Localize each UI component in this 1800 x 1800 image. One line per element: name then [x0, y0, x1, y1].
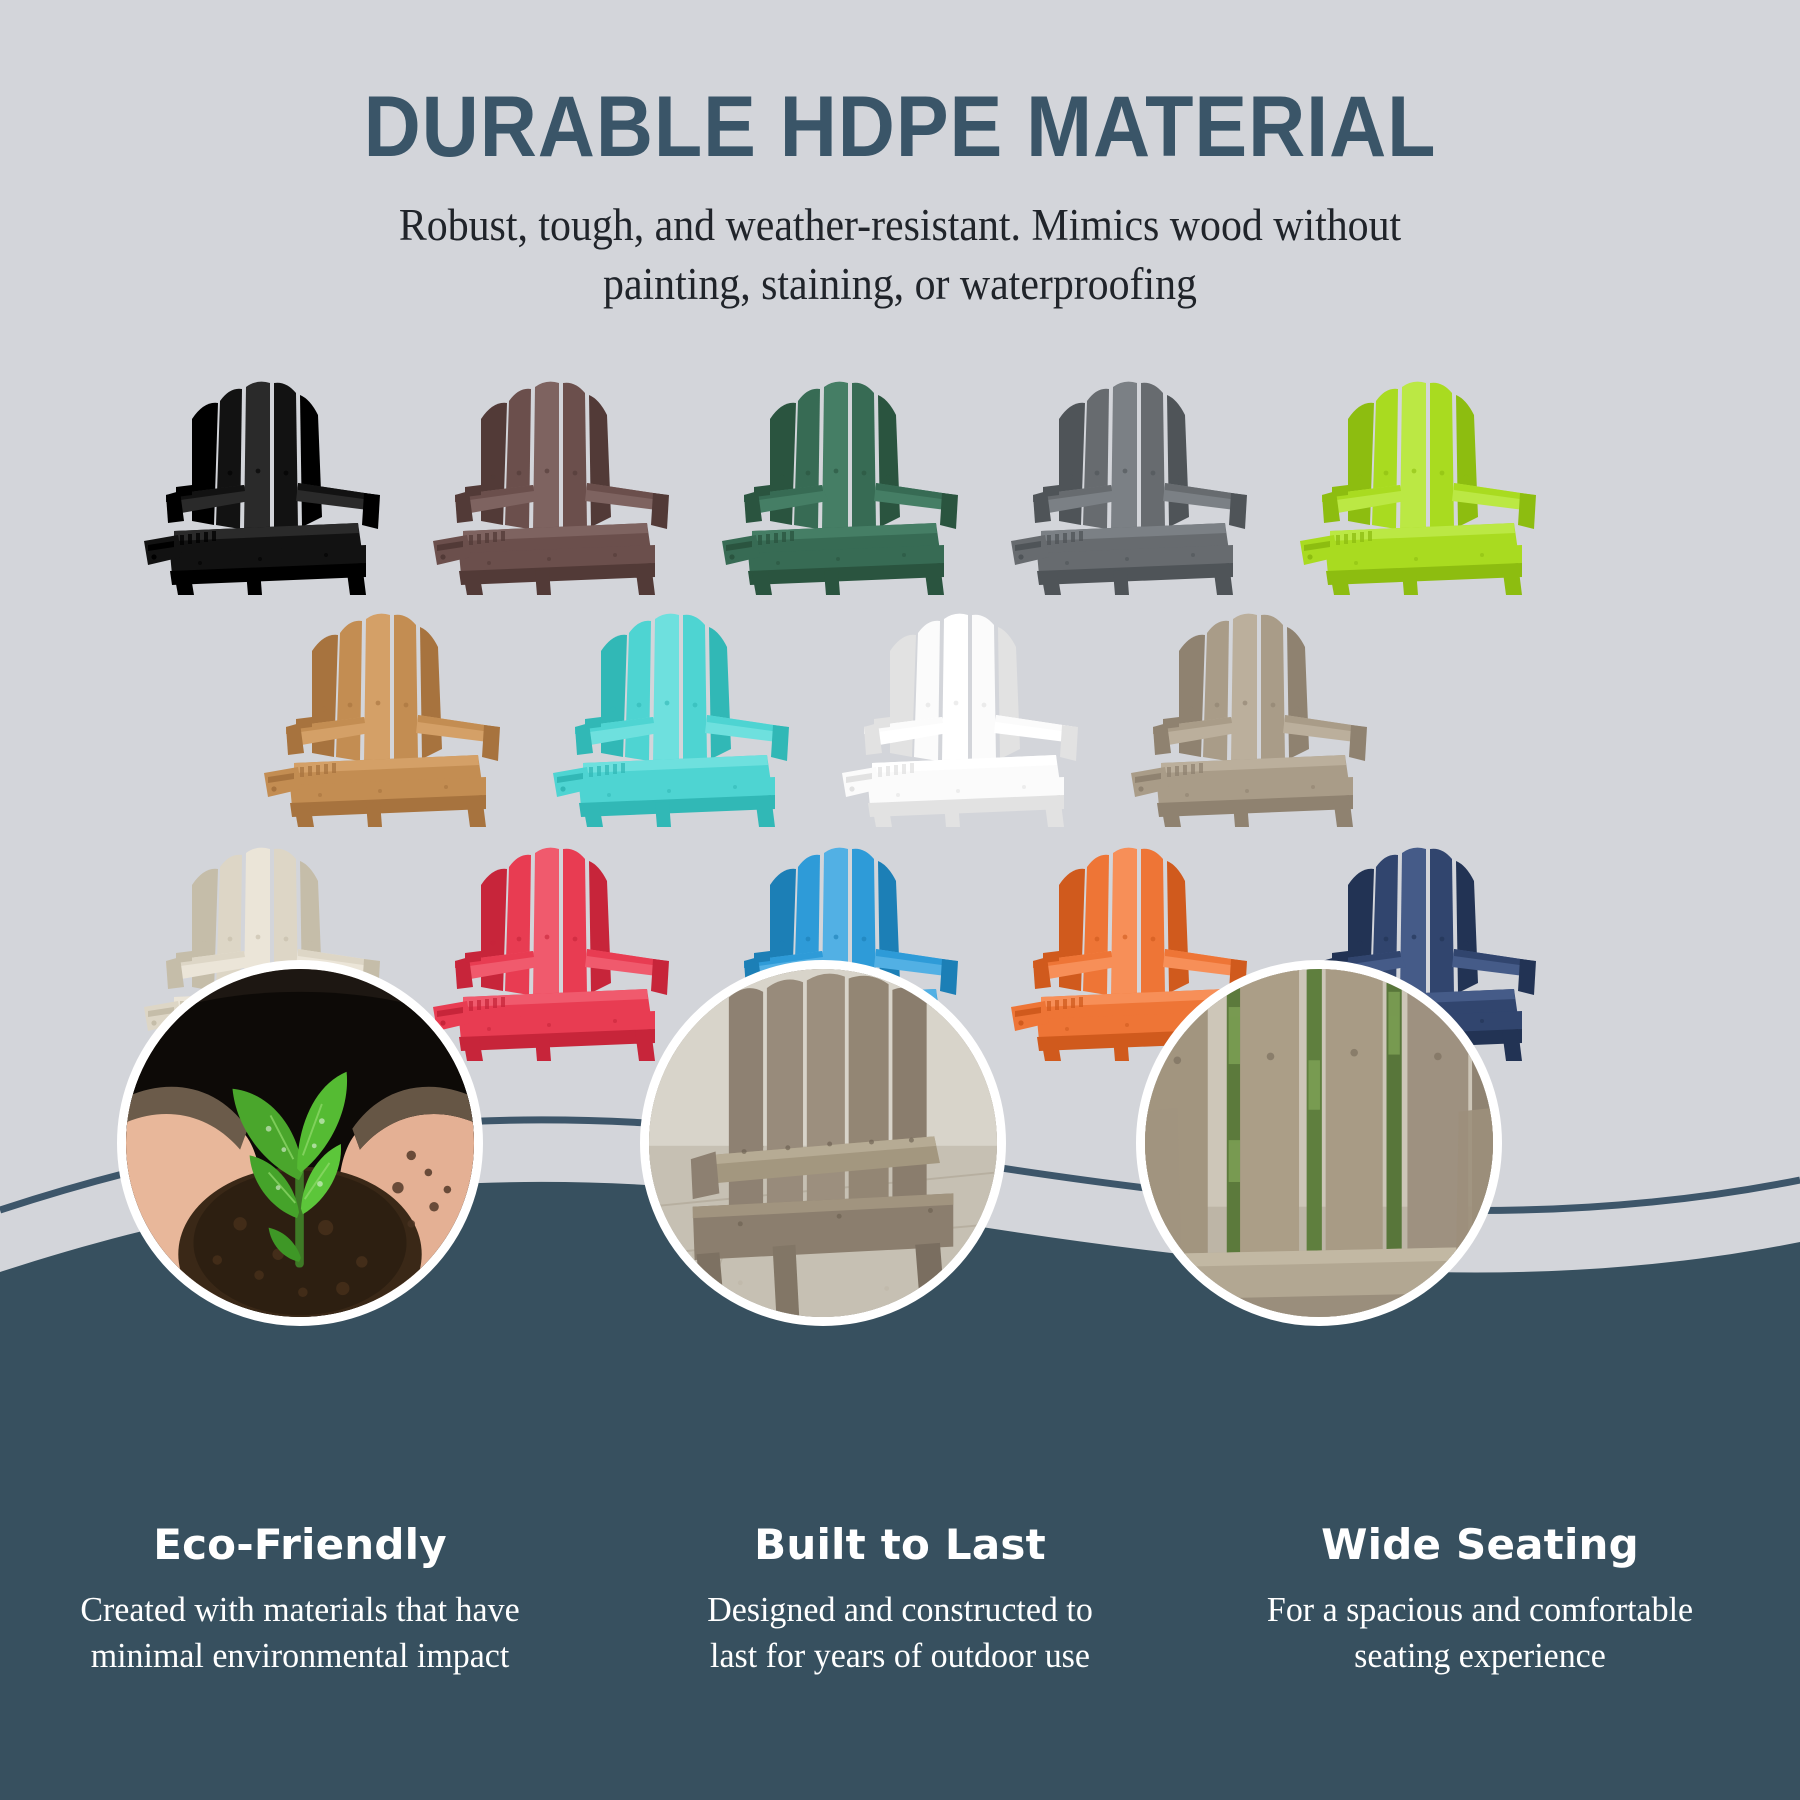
caption-line-2: seating experience — [1208, 1633, 1751, 1679]
chair-gray[interactable] — [1007, 345, 1257, 595]
chair-lime-green[interactable] — [1296, 345, 1546, 595]
chair-illustration — [140, 345, 390, 595]
chair-dark-green[interactable] — [718, 345, 968, 595]
chair-row-2 — [0, 577, 1800, 817]
chair-illustration — [718, 345, 968, 595]
subtitle-line-2: painting, staining, or waterproofing — [328, 255, 1472, 314]
header: DURABLE HDPE MATERIAL Robust, tough, and… — [0, 84, 1800, 315]
chair-back-closeup-icon — [1145, 969, 1493, 1317]
caption-wide-seating: Wide Seating For a spacious and comforta… — [1200, 1520, 1760, 1678]
chair-white[interactable] — [838, 577, 1088, 827]
chair-illustration — [1296, 345, 1546, 595]
caption-title: Eco-Friendly — [20, 1520, 580, 1569]
caption-line-2: last for years of outdoor use — [628, 1633, 1171, 1679]
patio-chair-photo-icon — [649, 969, 997, 1317]
chair-black[interactable] — [140, 345, 390, 595]
chair-back-slats — [1348, 382, 1478, 533]
chair-brown[interactable] — [429, 345, 679, 595]
seat-front — [1145, 1247, 1493, 1317]
caption-eco-friendly: Eco-Friendly Created with materials that… — [20, 1520, 580, 1678]
feature-caption-row: Eco-Friendly Created with materials that… — [0, 1520, 1800, 1750]
chair-illustration — [1127, 577, 1377, 827]
caption-built-to-last: Built to Last Designed and constructed t… — [620, 1520, 1180, 1678]
chair-turquoise[interactable] — [549, 577, 799, 827]
chair-teak[interactable] — [260, 577, 510, 827]
chair-back-slats — [481, 382, 611, 533]
feature-photo-built-to-last — [640, 960, 1006, 1326]
caption-line-1: For a spacious and comfortable — [1208, 1587, 1751, 1633]
chair-illustration — [549, 577, 799, 827]
infographic-canvas: DURABLE HDPE MATERIAL Robust, tough, and… — [0, 0, 1800, 1800]
chair-back-slats — [601, 614, 731, 765]
chair-illustration — [1007, 345, 1257, 595]
caption-line-2: minimal environmental impact — [28, 1633, 571, 1679]
chair-illustration — [429, 345, 679, 595]
chair-illustration — [838, 577, 1088, 827]
chair-illustration — [260, 577, 510, 827]
chair-tan[interactable] — [1127, 577, 1377, 827]
feature-photo-wide-seating — [1136, 960, 1502, 1326]
feature-photo-row — [0, 960, 1800, 1340]
page-title: DURABLE HDPE MATERIAL — [72, 84, 1728, 170]
chair-back-slats — [770, 382, 900, 533]
chair-row-1 — [0, 345, 1800, 585]
caption-title: Built to Last — [620, 1520, 1180, 1569]
chair-back-slats — [312, 614, 442, 765]
caption-line-1: Designed and constructed to — [628, 1587, 1171, 1633]
caption-title: Wide Seating — [1200, 1520, 1760, 1569]
chair-back-slats — [192, 382, 322, 533]
seedling-in-hands-icon — [126, 969, 474, 1317]
chair-back-slats — [1179, 614, 1309, 765]
chair-back-slats — [890, 614, 1020, 765]
chair-color-grid — [0, 345, 1800, 1051]
subtitle-line-1: Robust, tough, and weather-resistant. Mi… — [328, 196, 1472, 255]
caption-line-1: Created with materials that have — [28, 1587, 571, 1633]
page-subtitle: Robust, tough, and weather-resistant. Mi… — [328, 196, 1472, 315]
feature-photo-eco-friendly — [117, 960, 483, 1326]
chair-back-slats — [1059, 382, 1189, 533]
